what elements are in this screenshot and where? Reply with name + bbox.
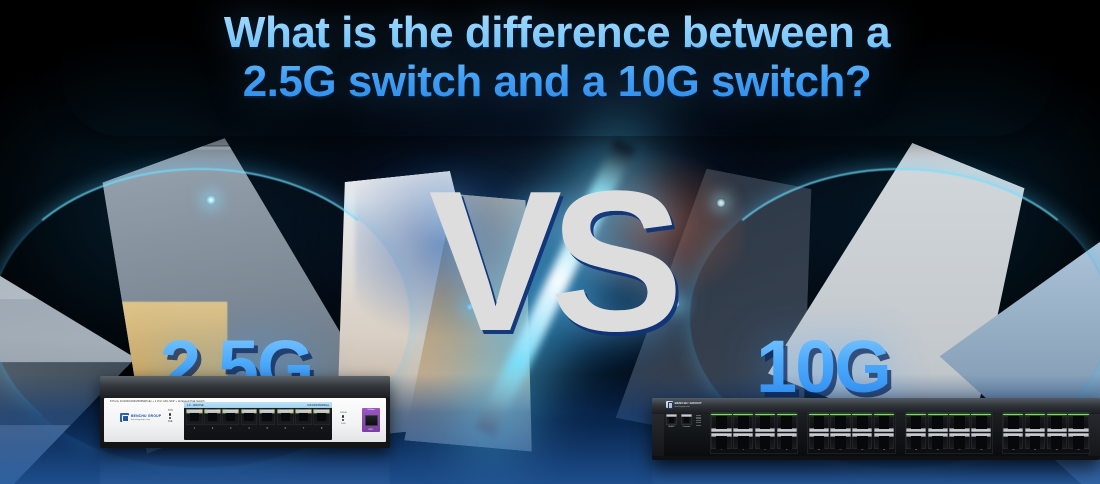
headline: What is the difference between a 2.5G sw… bbox=[62, 8, 1052, 107]
port-row-top bbox=[906, 416, 991, 432]
mgmt-rj45-port bbox=[666, 414, 677, 425]
switch-25g-status-leds: SYS PoE bbox=[168, 410, 173, 423]
brand-name: BENCHU GROUP bbox=[675, 401, 702, 405]
port-group-numbers: 10 12 14 16 bbox=[809, 449, 894, 452]
rj45-port bbox=[204, 409, 221, 425]
rj45-port bbox=[755, 416, 775, 432]
vs-label: VS bbox=[425, 162, 675, 362]
rj45-port bbox=[313, 409, 330, 425]
port-number: 6 bbox=[755, 449, 775, 452]
rj45-port bbox=[277, 409, 294, 425]
rj45-port bbox=[1047, 433, 1067, 449]
rj45-port bbox=[949, 433, 969, 449]
rj45-port bbox=[186, 409, 203, 425]
port-number: 28 bbox=[1025, 449, 1045, 452]
sfp-status-leds: 10/100 10G bbox=[340, 412, 347, 425]
port-number: 8 bbox=[777, 449, 797, 452]
switch-25g-brand: BENCHU GROUP benchugroup.com bbox=[120, 413, 161, 422]
port-header-left: 1-8 · 100M PoE bbox=[187, 404, 204, 407]
port-number: 24 bbox=[971, 449, 991, 452]
rj45-port bbox=[809, 416, 829, 432]
rj45-port bbox=[711, 433, 731, 449]
rj45-port bbox=[777, 433, 797, 449]
rj45-port bbox=[1068, 416, 1088, 432]
port-number: 1 bbox=[186, 427, 203, 430]
switch-25g-port-numbers: 1 2 3 4 5 6 7 8 bbox=[186, 427, 330, 430]
port-group-numbers: 18 20 22 24 bbox=[906, 449, 991, 452]
benchu-logo-icon bbox=[666, 401, 673, 408]
switch-25g-port-header: 1-8 · 100M PoE 100/1000/2500Mbps bbox=[184, 402, 332, 408]
led-indicator bbox=[342, 419, 344, 421]
vs-emblem: VS bbox=[425, 168, 675, 383]
port-number: 26 bbox=[1003, 449, 1023, 452]
port-number: 22 bbox=[949, 449, 969, 452]
rj45-port bbox=[949, 416, 969, 432]
brand-name: BENCHU GROUP bbox=[131, 414, 161, 418]
rj45-port bbox=[222, 409, 239, 425]
rj45-port bbox=[295, 409, 312, 425]
port-number: 5 bbox=[259, 427, 276, 430]
sfp-led-label-10g: 10G bbox=[341, 423, 345, 425]
port-number: 2 bbox=[711, 449, 731, 452]
headline-line-2: 2.5G switch and a 10G switch? bbox=[62, 57, 1052, 106]
port-number: 12 bbox=[830, 449, 850, 452]
switch-25g-ports bbox=[186, 409, 330, 425]
port-group: 10 12 14 16 bbox=[807, 412, 895, 454]
switch-25g-port-block: 1-8 · 100M PoE 100/1000/2500Mbps 1 2 bbox=[184, 402, 332, 440]
sfp-top-label: 10Gbps bbox=[367, 409, 374, 411]
rj45-port bbox=[1025, 433, 1045, 449]
rj45-port bbox=[971, 416, 991, 432]
led-label-sys: SYS bbox=[168, 410, 173, 412]
port-row-top bbox=[711, 416, 796, 432]
port-number: 3 bbox=[222, 427, 239, 430]
brand-url: benchugroup.com bbox=[675, 406, 702, 408]
rj45-port bbox=[874, 433, 894, 449]
led-indicator bbox=[342, 415, 344, 417]
rj45-port bbox=[1003, 416, 1023, 432]
console-port-label: Console bbox=[683, 426, 691, 428]
rj45-port bbox=[830, 433, 850, 449]
rj45-port bbox=[874, 416, 894, 432]
rj45-port bbox=[733, 416, 753, 432]
switch-25g-top bbox=[100, 376, 390, 398]
tier-label-10g: 10G bbox=[756, 330, 890, 404]
port-group: 18 20 22 24 bbox=[905, 412, 993, 454]
rj45-port bbox=[1025, 416, 1045, 432]
rj45-port bbox=[259, 409, 276, 425]
switch-10g-management-ports: MGMT Console bbox=[666, 414, 692, 428]
port-number: 8 bbox=[313, 427, 330, 430]
product-switch-25g: 8 Ports 10/100/1000/2500M(PoE) + 1 Port … bbox=[100, 376, 390, 448]
port-number: 30 bbox=[1047, 449, 1067, 452]
port-row-bottom bbox=[906, 433, 991, 449]
console-rj45-port bbox=[681, 414, 692, 425]
rack-ear-left bbox=[652, 414, 664, 456]
port-group-numbers: 26 28 30 32 bbox=[1003, 449, 1088, 452]
sfp-cage-icon bbox=[365, 415, 378, 426]
port-header-right: 100/1000/2500Mbps bbox=[307, 404, 329, 407]
port-row-bottom bbox=[809, 433, 894, 449]
rj45-port bbox=[1003, 433, 1023, 449]
led-indicator bbox=[169, 413, 171, 415]
rj45-port bbox=[809, 433, 829, 449]
port-group-leds bbox=[711, 414, 796, 416]
rj45-port bbox=[852, 416, 872, 432]
spark-icon bbox=[206, 195, 216, 205]
port-row-bottom bbox=[1003, 433, 1088, 449]
led-label-poe: PoE bbox=[168, 421, 172, 423]
product-switch-10g: BENCHU GROUP benchugroup.com MGMT Consol… bbox=[652, 398, 1100, 460]
port-group: 26 28 30 32 bbox=[1002, 412, 1090, 454]
sfp-led-label-speed: 10/100 bbox=[340, 412, 347, 414]
rj45-port bbox=[928, 433, 948, 449]
rj45-port bbox=[852, 433, 872, 449]
sfp-bottom-label: SFP+ bbox=[368, 429, 373, 431]
brand-url: benchugroup.com bbox=[131, 419, 161, 421]
port-row-top bbox=[1003, 416, 1088, 432]
rj45-port bbox=[971, 433, 991, 449]
sfp-plus-port: 10Gbps SFP+ bbox=[362, 408, 380, 432]
port-group-numbers: 2 4 6 8 bbox=[711, 449, 796, 452]
benchu-logo-icon bbox=[120, 413, 129, 422]
port-number: 20 bbox=[928, 449, 948, 452]
rj45-port bbox=[928, 416, 948, 432]
port-number: 16 bbox=[874, 449, 894, 452]
rj45-port bbox=[830, 416, 850, 432]
promo-banner: VS 2.5G 10G 8 Ports 10/100/1000/2500M(Po… bbox=[0, 0, 1100, 484]
switch-25g-faceplate: 8 Ports 10/100/1000/2500M(PoE) + 1 Port … bbox=[104, 398, 386, 442]
port-group-leds bbox=[1003, 414, 1088, 416]
port-group: 2 4 6 8 bbox=[710, 412, 798, 454]
switch-25g-sfp-area: 10/100 10G 10Gbps SFP+ bbox=[354, 408, 380, 436]
port-number: 2 bbox=[204, 427, 221, 430]
headline-line-1: What is the difference between a bbox=[62, 8, 1052, 57]
rj45-port bbox=[1047, 416, 1067, 432]
rj45-port bbox=[906, 433, 926, 449]
rj45-port bbox=[733, 433, 753, 449]
port-row-top bbox=[809, 416, 894, 432]
led-indicator bbox=[169, 417, 171, 419]
port-number: 14 bbox=[852, 449, 872, 452]
rj45-port bbox=[1068, 433, 1088, 449]
rj45-port bbox=[906, 416, 926, 432]
rj45-port bbox=[711, 416, 731, 432]
port-number: 4 bbox=[241, 427, 258, 430]
port-number: 6 bbox=[277, 427, 294, 430]
mgmt-port-label: MGMT bbox=[668, 426, 674, 428]
port-group-leds bbox=[906, 414, 991, 416]
switch-10g-led-column bbox=[696, 415, 701, 426]
switch-10g-brand: BENCHU GROUP benchugroup.com bbox=[666, 401, 702, 408]
headline-panel: What is the difference between a 2.5G sw… bbox=[62, 0, 1052, 136]
switch-10g-port-groups: 2 4 6 8 bbox=[710, 412, 1090, 454]
port-row-bottom bbox=[711, 433, 796, 449]
port-number: 32 bbox=[1068, 449, 1088, 452]
rj45-port bbox=[755, 433, 775, 449]
port-number: 10 bbox=[809, 449, 829, 452]
port-number: 4 bbox=[733, 449, 753, 452]
port-number: 18 bbox=[906, 449, 926, 452]
port-group-leds bbox=[809, 414, 894, 416]
rj45-port bbox=[777, 416, 797, 432]
rj45-port bbox=[241, 409, 258, 425]
port-number: 7 bbox=[295, 427, 312, 430]
